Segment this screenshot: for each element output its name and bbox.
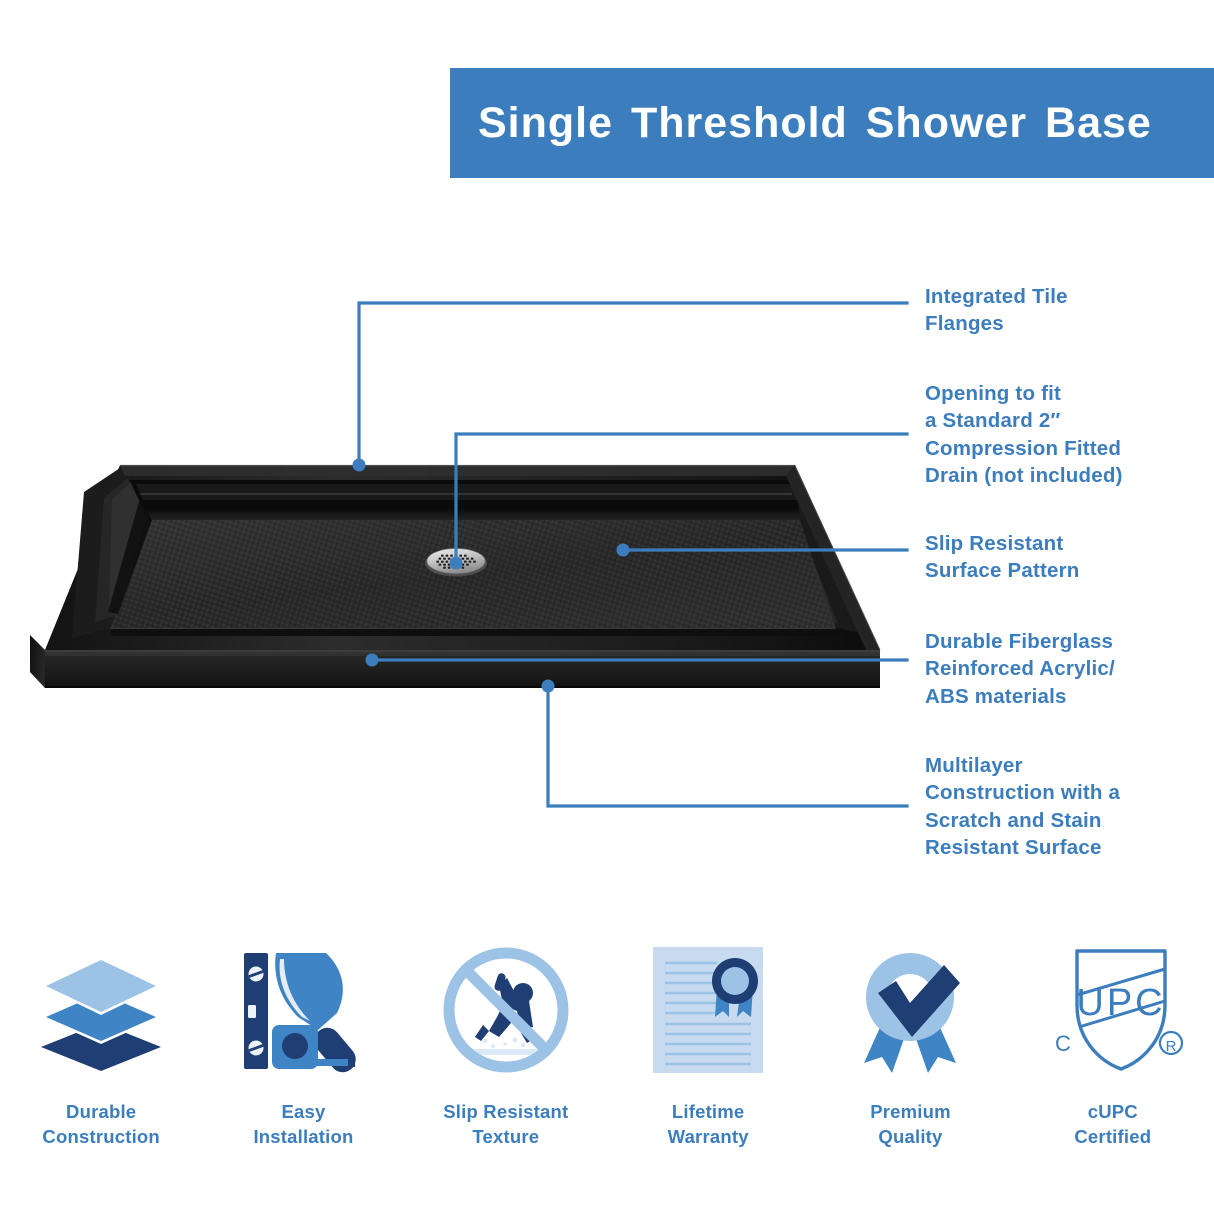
drain-cover — [425, 549, 487, 577]
no-slip-icon — [441, 940, 571, 1080]
certificate-icon — [649, 940, 767, 1080]
feature-label: Lifetime Warranty — [668, 1100, 749, 1150]
feature-cupc-certified[interactable]: UPC C R cUPC Certified — [1012, 940, 1214, 1150]
feature-lifetime-warranty[interactable]: Lifetime Warranty — [607, 940, 809, 1150]
upc-shield-icon: UPC C R — [1043, 940, 1183, 1080]
feature-strip: Durable Construction — [0, 940, 1214, 1190]
callout-label-integrated-tile-flanges: Integrated Tile Flanges — [925, 283, 1068, 338]
svg-text:R: R — [1165, 1038, 1176, 1055]
shower-base-illustration — [0, 420, 900, 750]
callout-label-durable-materials: Durable Fiberglass Reinforced Acrylic/ A… — [925, 628, 1115, 710]
layers-icon — [35, 940, 167, 1080]
page-title: Single Threshold Shower Base — [478, 99, 1152, 148]
registered-mark: R — [1160, 1032, 1182, 1055]
feature-label: Durable Construction — [42, 1100, 160, 1150]
check-rosette-icon — [848, 940, 972, 1080]
upc-prefix-text: C — [1055, 1031, 1071, 1056]
callout-label-multilayer-construction: Multilayer Construction with a Scratch a… — [925, 752, 1120, 861]
upc-mark-text: UPC — [1076, 982, 1165, 1024]
feature-slip-resistant[interactable]: Slip Resistant Texture — [405, 940, 607, 1150]
feature-label: Premium Quality — [870, 1100, 951, 1150]
title-banner: Single Threshold Shower Base — [450, 68, 1214, 178]
feature-label: cUPC Certified — [1074, 1100, 1151, 1150]
level-trowel-icon — [240, 940, 366, 1080]
feature-premium-quality[interactable]: Premium Quality — [809, 940, 1011, 1150]
callout-label-drain-opening: Opening to fit a Standard 2″ Compression… — [925, 380, 1123, 489]
feature-label: Slip Resistant Texture — [443, 1100, 568, 1150]
feature-easy-installation[interactable]: Easy Installation — [202, 940, 404, 1150]
callout-label-slip-resistant-surface: Slip Resistant Surface Pattern — [925, 530, 1080, 585]
feature-label: Easy Installation — [253, 1100, 353, 1150]
feature-durable-construction[interactable]: Durable Construction — [0, 940, 202, 1150]
